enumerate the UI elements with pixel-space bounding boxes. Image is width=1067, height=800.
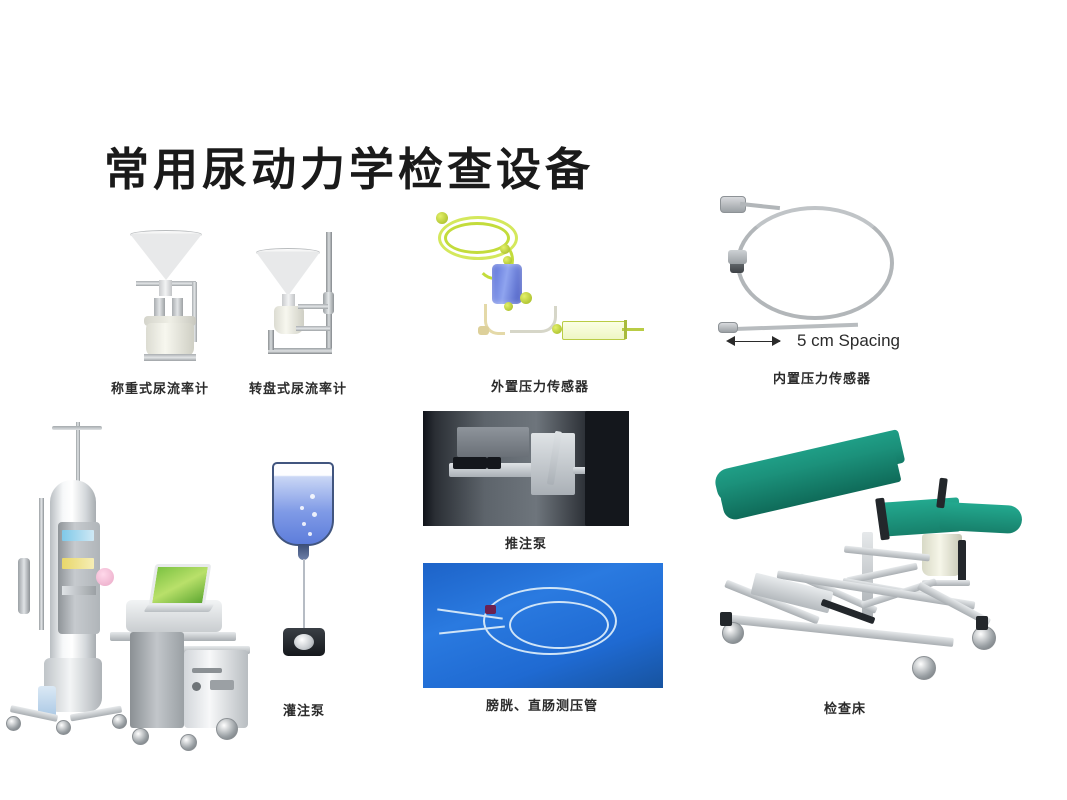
pump-rotor <box>294 634 314 650</box>
jar-base-ring <box>144 354 196 361</box>
laptop-screen <box>149 564 212 606</box>
panel-knob-row <box>62 586 96 595</box>
workstation-cart-body <box>130 632 184 728</box>
label-pressure-catheters: 膀胱、直肠测压管 <box>486 695 598 714</box>
spacing-annotation: 5 cm Spacing <box>797 331 900 351</box>
stand-foot-vertical <box>268 330 274 350</box>
spacing-arrow-left-head <box>726 336 735 346</box>
slide-canvas: 常用尿动力学检查设备 称重式尿流率计 转盘式尿流率计 <box>0 0 1067 800</box>
figure-syringe-pump: 推注泵 <box>423 411 629 551</box>
bag-drip-chamber <box>298 544 309 560</box>
syringe-barrel <box>562 321 626 340</box>
stand-foot-horizontal <box>268 348 332 354</box>
cart-caster-left <box>132 728 149 745</box>
fluid-bubble-2 <box>300 506 304 510</box>
figure-pressure-catheters: 膀胱、直肠测压管 <box>423 563 663 728</box>
label-internal-pressure-transducer: 内置压力传感器 <box>773 368 871 387</box>
syringe-connector <box>552 324 562 334</box>
fluid-bubble-3 <box>312 512 317 517</box>
figure-weight-uroflowmeter: 称重式尿流率计 <box>108 226 233 366</box>
pressure-catheters-photo <box>423 563 663 688</box>
iv-hook-right <box>76 426 102 430</box>
figure-external-pressure-transducer: 外置压力传感器 <box>424 208 639 368</box>
tower-caster-mid <box>56 720 71 735</box>
laptop-keyboard <box>144 604 215 612</box>
figure-urodynamic-system <box>0 418 250 768</box>
tower-caster-right <box>112 714 127 729</box>
funnel-neck <box>159 280 172 296</box>
label-rotating-disc-uroflowmeter: 转盘式尿流率计 <box>249 378 347 397</box>
table-frame-upper-cross <box>844 546 930 562</box>
figure-rotating-disc-uroflowmeter: 转盘式尿流率计 <box>246 226 371 366</box>
table-leg-pad <box>939 502 1022 534</box>
page-title: 常用尿动力学检查设备 <box>104 133 594 198</box>
syringe-pump-photo <box>423 411 629 526</box>
stand-clamp <box>323 292 334 314</box>
bucket-bracket <box>958 540 966 582</box>
label-infusion-pump: 灌注泵 <box>283 700 325 719</box>
catheter-distal-tip <box>718 322 738 333</box>
tubing-connector-top <box>436 212 448 224</box>
iv-hook-left <box>52 426 78 430</box>
tower-caster-left <box>6 716 21 731</box>
fluid-bubble-1 <box>310 494 315 499</box>
infusion-drip-line <box>303 559 305 631</box>
tower-arm-grip <box>18 558 30 614</box>
catheter-loop <box>736 206 894 320</box>
pump-clamp-block <box>487 457 501 469</box>
table-caster-mount-right <box>976 616 988 630</box>
catheter-tip-collar <box>728 250 747 264</box>
table-caster-front-right <box>912 656 936 680</box>
stand-arm <box>298 304 328 309</box>
table-base-rail-front <box>724 614 954 647</box>
printer-slot <box>192 668 222 673</box>
figure-internal-pressure-transducer: 5 cm Spacing 内置压力传感器 <box>700 192 930 367</box>
pump-shadow-right <box>585 411 629 526</box>
label-syringe-pump: 推注泵 <box>505 533 547 552</box>
table-caster-mount-left <box>720 612 732 626</box>
panel-strip-blue <box>62 530 94 541</box>
label-external-pressure-transducer: 外置压力传感器 <box>491 376 589 395</box>
stopcock-upper <box>500 244 510 254</box>
catheter-balloon-marker <box>485 605 496 614</box>
pump-mount-plate <box>457 427 529 457</box>
tower-side-rail <box>39 498 44 630</box>
cart-caster-right <box>216 718 238 740</box>
patient-line-tip <box>478 326 489 335</box>
spacing-arrow-right-head <box>772 336 781 346</box>
pressure-transducer-body <box>492 264 522 304</box>
fluid-bubble-5 <box>308 532 312 536</box>
panel-strip-yellow <box>62 558 94 569</box>
funnel-bowl <box>130 234 202 280</box>
syringe-flange <box>624 320 627 339</box>
syringe-line <box>510 306 557 333</box>
catheter-lower-lead <box>728 323 858 332</box>
stand-vertical-post <box>326 232 332 350</box>
printer-panel <box>210 680 234 690</box>
funnel-bowl <box>256 252 320 296</box>
figure-infusion-pump: 灌注泵 <box>258 460 378 710</box>
fluid-bubble-4 <box>302 522 306 526</box>
collection-jar <box>146 323 194 357</box>
stopcock-side <box>520 292 532 304</box>
figure-examination-table: 检查床 <box>700 440 1020 730</box>
infusion-fluid-bag <box>272 462 334 546</box>
label-examination-table: 检查床 <box>824 698 866 717</box>
catheter-coil-small <box>509 601 609 649</box>
printer-button <box>192 682 201 691</box>
cart-caster-mid <box>180 734 197 751</box>
stand-lower-arm <box>296 326 330 331</box>
label-weight-uroflowmeter: 称重式尿流率计 <box>111 378 209 397</box>
pump-slot <box>453 457 487 469</box>
tower-accessory-pink <box>96 568 114 586</box>
